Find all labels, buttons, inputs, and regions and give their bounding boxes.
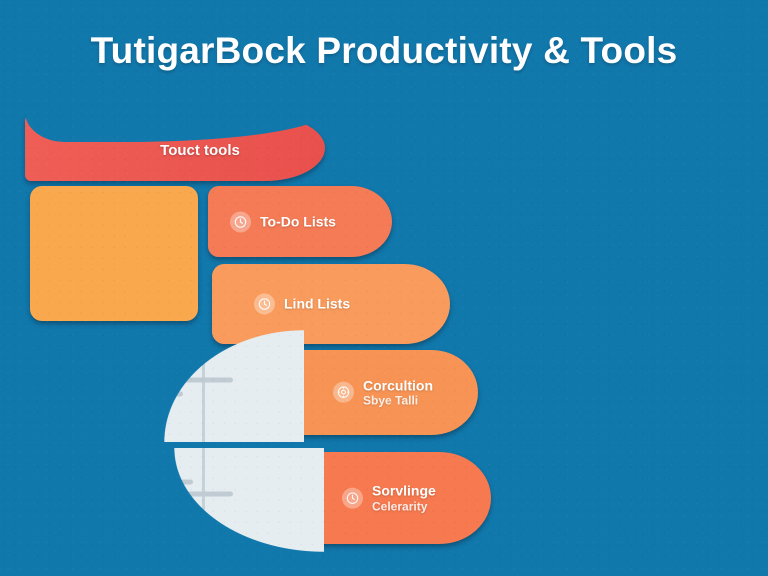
- gear-circle-icon: [333, 382, 354, 403]
- list-card-bottom[interactable]: [28, 448, 324, 552]
- clock-circle-icon: [230, 211, 251, 232]
- pill-text: Sorvlinge Celerarity: [372, 483, 436, 514]
- pill-content: Sorvlinge Celerarity: [342, 483, 436, 514]
- placeholder-line: [83, 366, 193, 371]
- placeholder-line: [83, 492, 233, 497]
- bullet-dot-icon: [58, 482, 71, 495]
- slide-canvas: TutigarBock Productivity & Tools Touct t…: [0, 0, 768, 576]
- pill-content: Lind Lists: [254, 294, 350, 315]
- pill-content: Corcultion Sbye Talli: [333, 377, 433, 408]
- placeholder-lines: [83, 392, 183, 397]
- pill-to-do-lists[interactable]: To-Do Lists: [208, 186, 392, 257]
- page-title: TutigarBock Productivity & Tools: [0, 30, 768, 72]
- list-item[interactable]: [58, 392, 233, 407]
- list-card-top[interactable]: [28, 330, 304, 442]
- card-rows: [58, 366, 233, 407]
- clock-circle-icon: [342, 487, 363, 508]
- placeholder-line: [83, 392, 183, 397]
- clock-circle-icon: [254, 294, 275, 315]
- list-item[interactable]: [58, 366, 233, 383]
- pill-title: Corcultion: [363, 377, 433, 394]
- bullet-dot-icon: [58, 368, 71, 381]
- banner-label: Touct tools: [110, 142, 290, 159]
- bullet-dot-icon: [58, 508, 71, 521]
- pill-subtitle: Sbye Talli: [363, 394, 433, 408]
- pill-title: Lind Lists: [284, 296, 350, 313]
- pill-content: To-Do Lists: [230, 211, 336, 232]
- pill-title: Sorvlinge: [372, 483, 436, 500]
- placeholder-lines: [83, 506, 178, 511]
- placeholder-line: [83, 506, 178, 511]
- pill-text: Corcultion Sbye Talli: [363, 377, 433, 408]
- bullet-dot-icon: [58, 394, 71, 407]
- pill-title: To-Do Lists: [260, 213, 336, 230]
- amber-block[interactable]: [30, 186, 198, 321]
- placeholder-lines: [83, 366, 233, 383]
- pill-subtitle: Celerarity: [372, 499, 436, 513]
- list-item[interactable]: [58, 480, 233, 497]
- list-item[interactable]: [58, 506, 233, 521]
- card-rows: [58, 480, 233, 521]
- placeholder-lines: [83, 480, 233, 497]
- placeholder-line: [83, 378, 233, 383]
- placeholder-line: [83, 480, 193, 485]
- pill-sorvlinge[interactable]: Sorvlinge Celerarity: [306, 452, 491, 544]
- pill-text: Lind Lists: [284, 296, 350, 313]
- pill-text: To-Do Lists: [260, 213, 336, 230]
